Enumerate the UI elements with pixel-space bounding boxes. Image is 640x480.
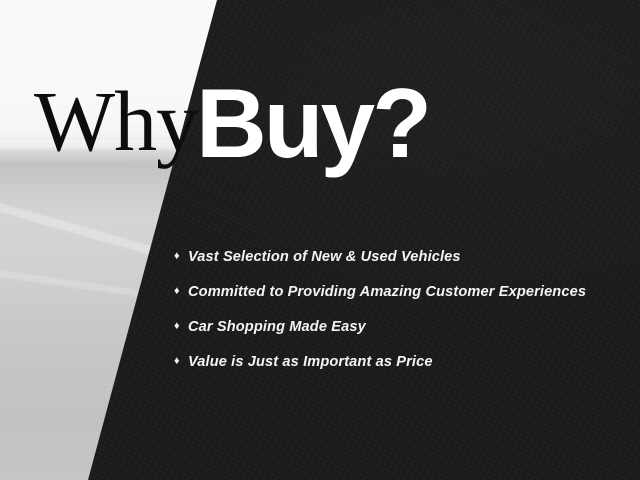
list-item-label: Committed to Providing Amazing Customer … [188, 285, 586, 300]
list-item-label: Car Shopping Made Easy [188, 320, 366, 335]
list-item: ♦ Committed to Providing Amazing Custome… [174, 285, 624, 320]
diamond-bullet-icon: ♦ [174, 251, 188, 262]
list-item-label: Value is Just as Important as Price [188, 355, 433, 370]
why-buy-slide: Why Buy? ♦ Vast Selection of New & Used … [0, 0, 640, 480]
diamond-bullet-icon: ♦ [174, 321, 188, 332]
list-item: ♦ Vast Selection of New & Used Vehicles [174, 250, 624, 285]
diamond-bullet-icon: ♦ [174, 286, 188, 297]
list-item-label: Vast Selection of New & Used Vehicles [188, 250, 461, 265]
diamond-bullet-icon: ♦ [174, 356, 188, 367]
benefits-list: ♦ Vast Selection of New & Used Vehicles … [174, 250, 624, 390]
list-item: ♦ Car Shopping Made Easy [174, 320, 624, 355]
list-item: ♦ Value is Just as Important as Price [174, 355, 624, 390]
